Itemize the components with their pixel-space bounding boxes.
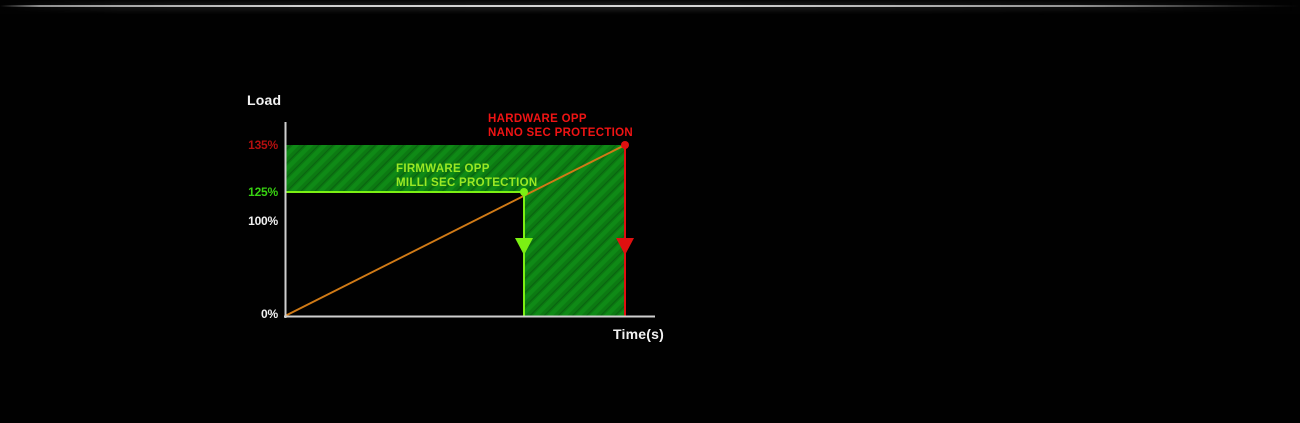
firmware-opp-annotation-title: FIRMWARE OPP: [396, 163, 490, 176]
hardware-opp-annotation-subtitle: NANO SEC PROTECTION: [488, 127, 633, 140]
chart-svg: [0, 0, 700, 423]
y-tick-label-0: 0%: [228, 308, 278, 320]
y-tick-label-135: 135%: [228, 139, 278, 151]
screenshot-canvas: Load Time(s) 135% 125% 100% 0% HARDWARE …: [0, 0, 1300, 423]
hardware-trip-point-marker: [621, 141, 629, 149]
y-tick-label-100: 100%: [228, 215, 278, 227]
y-tick-label-125: 125%: [228, 186, 278, 198]
firmware-opp-annotation-subtitle: MILLI SEC PROTECTION: [396, 177, 537, 190]
opp-protection-chart: Load Time(s) 135% 125% 100% 0% HARDWARE …: [0, 0, 700, 423]
y-axis-title: Load: [247, 93, 281, 107]
hardware-opp-annotation-title: HARDWARE OPP: [488, 113, 587, 126]
x-axis-title: Time(s): [613, 327, 664, 341]
